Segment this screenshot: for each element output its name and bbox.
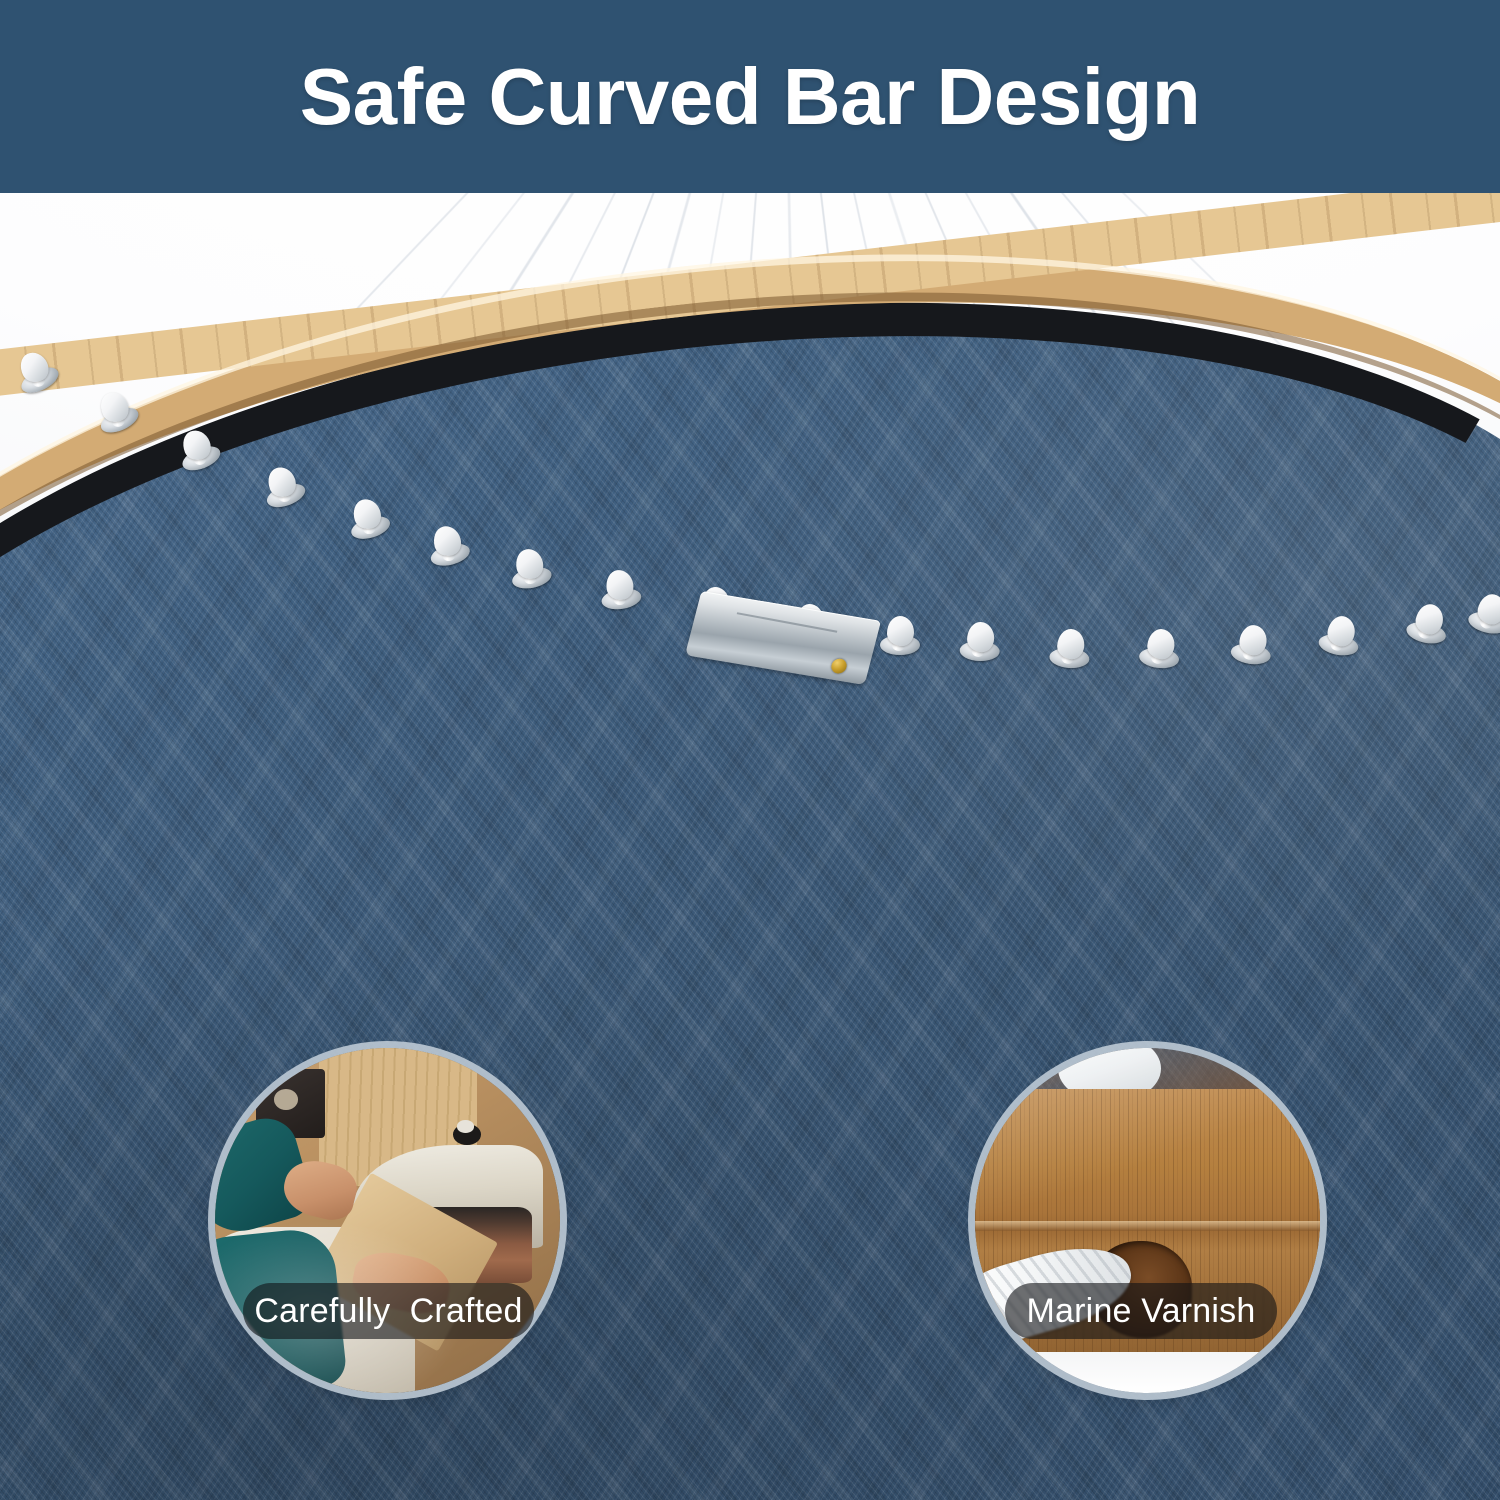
- inset-right-photo: [975, 1048, 1320, 1393]
- rope-clip: [1049, 629, 1092, 670]
- varnish-gloss: [975, 1048, 1320, 1393]
- inset-left-photo: [215, 1048, 560, 1393]
- caption-marine-varnish: Marine Varnish: [1005, 1283, 1277, 1339]
- rope-clip: [1404, 601, 1451, 646]
- rope-clip: [1317, 614, 1363, 658]
- caption-carefully-crafted: Carefully Crafted: [243, 1283, 534, 1339]
- rope-clip: [880, 617, 920, 655]
- rope-knot: [967, 622, 995, 653]
- product-feature-image: Safe Curved Bar Design: [0, 0, 1500, 1500]
- inset-marine-varnish: [975, 1048, 1320, 1393]
- rope-clip: [506, 546, 553, 591]
- sawdust-haze: [215, 1048, 560, 1393]
- inset-carefully-crafted: [215, 1048, 560, 1393]
- header-band: Safe Curved Bar Design: [0, 0, 1500, 193]
- bracket-seam: [737, 612, 838, 632]
- brass-screw: [830, 658, 849, 675]
- rope-knot: [887, 616, 914, 646]
- rope-clip: [1138, 628, 1182, 670]
- rope-clip: [959, 622, 1000, 661]
- page-title: Safe Curved Bar Design: [0, 0, 1500, 193]
- rope-clip: [597, 568, 642, 612]
- rope-clip: [1230, 623, 1275, 666]
